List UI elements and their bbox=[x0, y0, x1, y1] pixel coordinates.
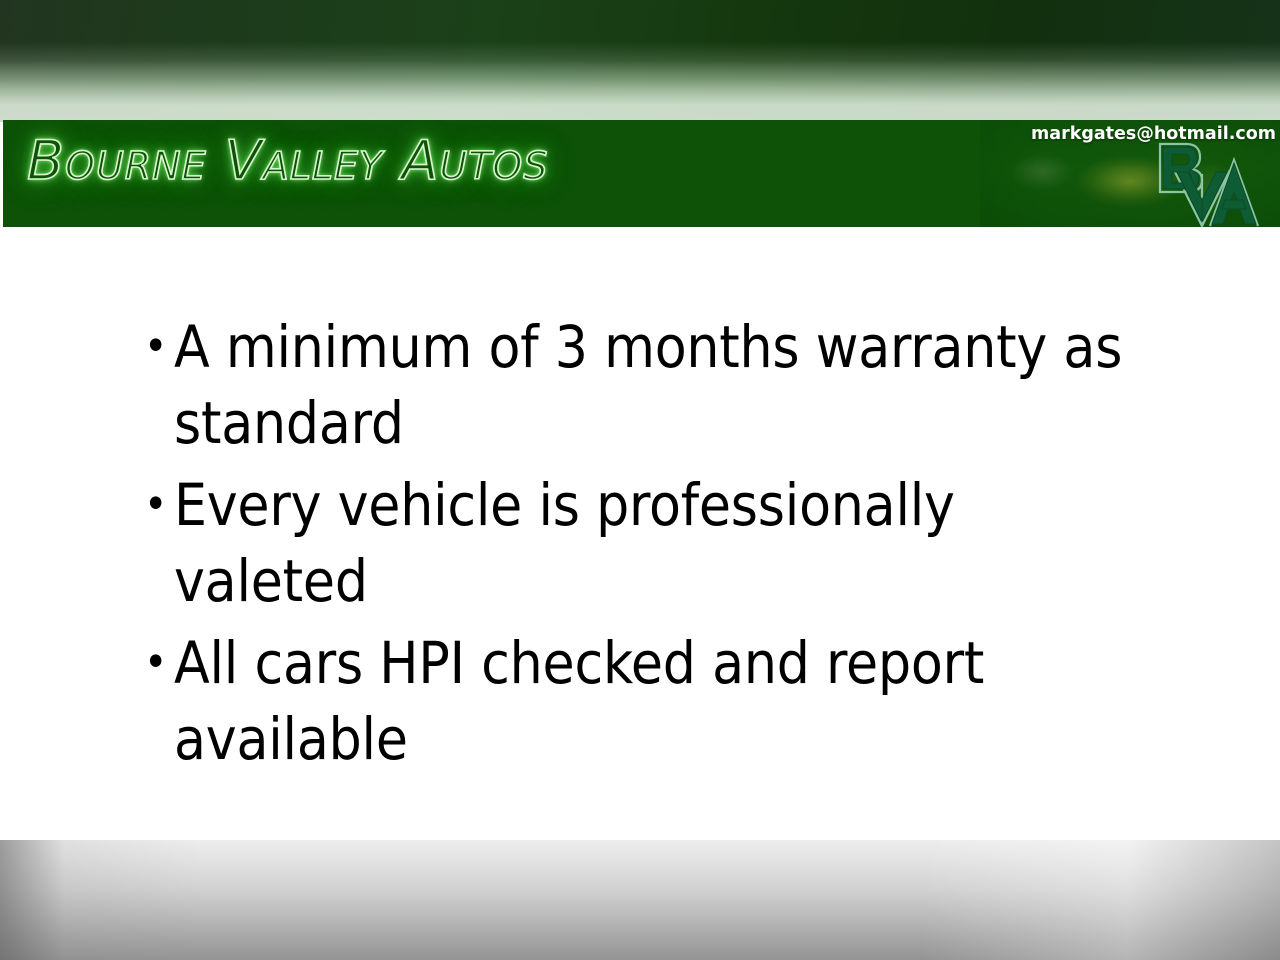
bva-monogram-icon bbox=[1144, 140, 1262, 227]
top-band-sheen bbox=[0, 60, 1280, 122]
bva-monogram-svg bbox=[1144, 140, 1262, 227]
list-item: All cars HPI checked and report availabl… bbox=[140, 625, 1150, 777]
presentation-slide: Bourne Valley Autos markgates@hotmail.co… bbox=[0, 0, 1280, 960]
feature-bullet-list: A minimum of 3 months warranty as standa… bbox=[140, 309, 1150, 783]
bottom-band-edge-shading bbox=[0, 840, 1280, 960]
company-logo-text: Bourne Valley Autos bbox=[27, 134, 548, 188]
top-decorative-band bbox=[0, 0, 1280, 122]
bottom-decorative-band bbox=[0, 840, 1280, 960]
list-item: Every vehicle is professionally valeted bbox=[140, 467, 1150, 619]
slide-body: A minimum of 3 months warranty as standa… bbox=[0, 227, 1280, 840]
list-item: A minimum of 3 months warranty as standa… bbox=[140, 309, 1150, 461]
header-banner: Bourne Valley Autos markgates@hotmail.co… bbox=[3, 120, 1280, 227]
